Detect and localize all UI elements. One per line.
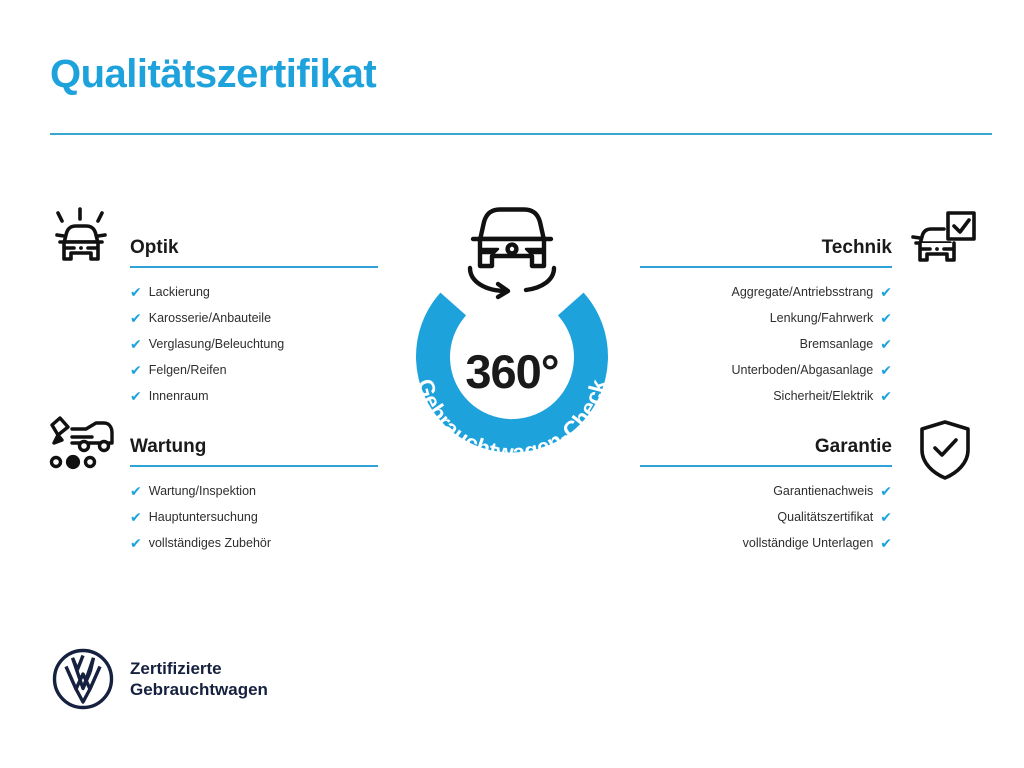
badge-360-check: Gebrauchtwagen-Check 360°	[382, 196, 642, 486]
footer-line-2: Gebrauchtwagen	[130, 679, 268, 700]
shield-check-icon	[916, 418, 974, 487]
car-service-pencil-icon	[46, 415, 120, 482]
list-item: ✔Felgen/Reifen	[130, 363, 378, 377]
badge-center-label: 360°	[382, 344, 642, 399]
section-title-garantie: Garantie	[640, 437, 892, 465]
list-item-label: Garantienachweis	[773, 485, 873, 498]
list-item: ✔Karosserie/Anbauteile	[130, 311, 378, 325]
list-item-label: Qualitätszertifikat	[777, 511, 873, 524]
checklist-garantie: Garantienachweis✔ Qualitätszertifikat✔ v…	[640, 484, 892, 550]
list-item-label: Karosserie/Anbauteile	[149, 312, 271, 325]
section-title-technik: Technik	[640, 238, 892, 266]
footer-line-1: Zertifizierte	[130, 658, 268, 679]
check-icon: ✔	[130, 389, 142, 403]
section-divider-technik	[640, 266, 892, 268]
check-icon: ✔	[880, 285, 892, 299]
check-icon: ✔	[130, 510, 142, 524]
list-item: Lenkung/Fahrwerk✔	[640, 311, 892, 325]
check-icon: ✔	[130, 536, 142, 550]
section-divider-optik	[130, 266, 378, 268]
list-item-label: vollständige Unterlagen	[743, 537, 874, 550]
check-icon: ✔	[130, 337, 142, 351]
list-item-label: Felgen/Reifen	[149, 364, 227, 377]
list-item-label: Aggregate/Antriebsstrang	[732, 286, 874, 299]
list-item-label: vollständiges Zubehör	[149, 537, 271, 550]
volkswagen-logo	[52, 648, 114, 710]
check-icon: ✔	[880, 337, 892, 351]
list-item: ✔Wartung/Inspektion	[130, 484, 378, 498]
check-icon: ✔	[130, 311, 142, 325]
section-divider-wartung	[130, 465, 378, 467]
list-item-label: Hauptuntersuchung	[149, 511, 258, 524]
check-icon: ✔	[880, 484, 892, 498]
certificate-page: Qualitätszertifikat	[0, 0, 1024, 768]
footer-text: Zertifizierte Gebrauchtwagen	[130, 658, 268, 701]
section-divider-garantie	[640, 465, 892, 467]
check-icon: ✔	[130, 285, 142, 299]
list-item-label: Lackierung	[149, 286, 210, 299]
footer-brand: Zertifizierte Gebrauchtwagen	[52, 648, 268, 710]
list-item-label: Lenkung/Fahrwerk	[770, 312, 874, 325]
list-item-label: Wartung/Inspektion	[149, 485, 256, 498]
page-title: Qualitätszertifikat	[50, 52, 376, 96]
car-rotate-icon	[454, 196, 570, 301]
list-item-label: Unterboden/Abgasanlage	[731, 364, 873, 377]
list-item: Aggregate/Antriebsstrang✔	[640, 285, 892, 299]
list-item-label: Innenraum	[149, 390, 209, 403]
car-shine-icon	[46, 205, 116, 274]
section-garantie: Garantie Garantienachweis✔ Qualitätszert…	[640, 437, 892, 562]
section-title-wartung: Wartung	[130, 437, 378, 465]
checklist-wartung: ✔Wartung/Inspektion ✔Hauptuntersuchung ✔…	[130, 484, 378, 550]
check-icon: ✔	[880, 510, 892, 524]
checklist-technik: Aggregate/Antriebsstrang✔ Lenkung/Fahrwe…	[640, 285, 892, 403]
list-item: Sicherheit/Elektrik✔	[640, 389, 892, 403]
list-item: vollständige Unterlagen✔	[640, 536, 892, 550]
list-item: Garantienachweis✔	[640, 484, 892, 498]
car-checkbox-icon	[906, 210, 978, 277]
check-icon: ✔	[880, 363, 892, 377]
check-icon: ✔	[880, 311, 892, 325]
section-wartung: Wartung ✔Wartung/Inspektion ✔Hauptunters…	[130, 437, 378, 562]
check-icon: ✔	[130, 484, 142, 498]
check-icon: ✔	[880, 389, 892, 403]
check-icon: ✔	[880, 536, 892, 550]
list-item: ✔vollständiges Zubehör	[130, 536, 378, 550]
header-divider	[50, 133, 992, 135]
section-optik: Optik ✔Lackierung ✔Karosserie/Anbauteile…	[130, 238, 378, 415]
list-item: Unterboden/Abgasanlage✔	[640, 363, 892, 377]
list-item: ✔Innenraum	[130, 389, 378, 403]
list-item: ✔Hauptuntersuchung	[130, 510, 378, 524]
list-item: ✔Verglasung/Beleuchtung	[130, 337, 378, 351]
list-item: ✔Lackierung	[130, 285, 378, 299]
list-item-label: Sicherheit/Elektrik	[773, 390, 873, 403]
list-item-label: Verglasung/Beleuchtung	[149, 338, 285, 351]
checklist-optik: ✔Lackierung ✔Karosserie/Anbauteile ✔Verg…	[130, 285, 378, 403]
check-icon: ✔	[130, 363, 142, 377]
section-technik: Technik Aggregate/Antriebsstrang✔ Lenkun…	[640, 238, 892, 415]
list-item: Bremsanlage✔	[640, 337, 892, 351]
list-item-label: Bremsanlage	[800, 338, 874, 351]
list-item: Qualitätszertifikat✔	[640, 510, 892, 524]
section-title-optik: Optik	[130, 238, 378, 266]
